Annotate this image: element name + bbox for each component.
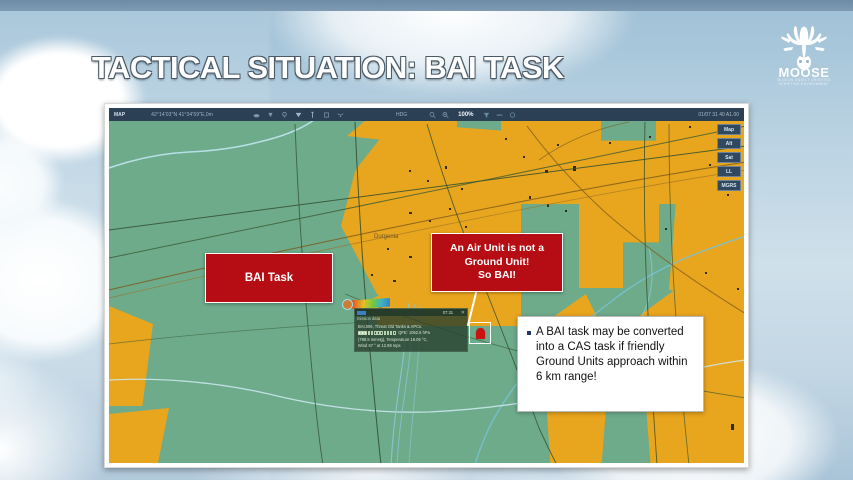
mission-gauge-line: QFE: 1052.6 hPa bbox=[358, 330, 465, 337]
weather-icon[interactable] bbox=[295, 111, 302, 119]
mission-panel-subtitle: mission data bbox=[355, 316, 467, 323]
callout-air-unit-note: An Air Unit is not a Ground Unit! So BAI… bbox=[431, 233, 563, 292]
close-icon[interactable]: ✕ bbox=[461, 310, 465, 317]
top-band bbox=[0, 0, 853, 11]
wind-icon[interactable] bbox=[267, 111, 274, 119]
mission-data-panel[interactable]: 07:31 ✕ mission data BAI.006, Threat Old… bbox=[354, 308, 468, 352]
zoom-controls bbox=[429, 111, 449, 119]
town-label: Durgenia bbox=[374, 234, 398, 240]
mission-time: 07:31 bbox=[443, 310, 453, 316]
fuel-gauge-icon bbox=[358, 331, 396, 337]
layer-button-map[interactable]: Map bbox=[717, 124, 741, 135]
circle-icon[interactable] bbox=[509, 111, 516, 119]
broadcast-icon[interactable] bbox=[337, 111, 344, 119]
callout-cas-conversion-text: A BAI task may be converted into a CAS t… bbox=[536, 325, 695, 385]
map-mode-label[interactable]: MAP bbox=[114, 112, 125, 118]
map-viewport[interactable]: Durgenia Olaskuri 07:31 ✕ mission data B… bbox=[109, 108, 744, 463]
grid-icon[interactable] bbox=[323, 111, 330, 119]
mission-panel-header: 07:31 ✕ bbox=[355, 309, 467, 316]
map-toolbar: MAP 42°14'03"N 41°34'59"E,0m HDG 100% bbox=[109, 108, 744, 121]
heading-label: HDG bbox=[396, 112, 407, 118]
mission-panel-body: BAI.006, Threat Old Tanks & APCs. QFE: 1… bbox=[355, 323, 467, 351]
toolbar-icon-group bbox=[253, 111, 344, 119]
page-title: TACTICAL SITUATION: BAI TASK bbox=[92, 50, 564, 86]
callout-cas-conversion-note: A BAI task may be converted into a CAS t… bbox=[517, 316, 704, 412]
ruler-icon[interactable] bbox=[309, 111, 316, 119]
layer-button-ll[interactable]: LL bbox=[717, 166, 741, 177]
minus-icon[interactable] bbox=[496, 111, 503, 119]
coordinate-readout: 42°14'03"N 41°34'59"E,0m bbox=[151, 112, 213, 118]
zoom-out-icon[interactable] bbox=[429, 111, 436, 119]
callout-air-unit-line1: An Air Unit is not a bbox=[450, 242, 544, 255]
callout-bai-task: BAI Task bbox=[205, 253, 333, 303]
layer-button-alt[interactable]: Alt bbox=[717, 138, 741, 149]
layer-button-sat[interactable]: Sat bbox=[717, 152, 741, 163]
zoom-level: 100% bbox=[458, 112, 473, 118]
toolbar-right-icon-group bbox=[483, 111, 516, 119]
pin-icon[interactable] bbox=[281, 111, 288, 119]
callout-air-unit-line3: So BAI! bbox=[478, 269, 516, 282]
mission-clock: 01/07 31 40 A1.00 bbox=[698, 112, 739, 118]
filter-icon[interactable] bbox=[483, 111, 490, 119]
map-layer-buttons: Map Alt Sat LL MGRS bbox=[717, 124, 741, 191]
callout-air-unit-line2: Ground Unit! bbox=[465, 256, 530, 269]
logo-tagline: MISSION OBJECT ORIENTED SCRIPTING ENVIRO… bbox=[769, 78, 839, 86]
slide: TACTICAL SITUATION: BAI TASK MOOSE MISSI… bbox=[0, 0, 853, 480]
cloud-icon[interactable] bbox=[253, 111, 260, 119]
moose-logo: MOOSE MISSION OBJECT ORIENTED SCRIPTING … bbox=[769, 14, 839, 84]
mission-wind-line: Wind 67 ° at 12.98 mps bbox=[358, 343, 465, 349]
callout-bai-task-label: BAI Task bbox=[245, 272, 293, 284]
map-screenshot-frame: Durgenia Olaskuri 07:31 ✕ mission data B… bbox=[104, 103, 749, 468]
air-unit-icon bbox=[342, 299, 353, 310]
qfe-value: QFE: 1052.6 hPa bbox=[398, 330, 430, 335]
zoom-in-icon[interactable] bbox=[442, 111, 449, 119]
layer-button-mgrs[interactable]: MGRS bbox=[717, 180, 741, 191]
bullet-icon bbox=[527, 331, 531, 335]
enemy-ground-target-marker[interactable] bbox=[469, 322, 491, 344]
unit-color-badge bbox=[357, 311, 366, 315]
threat-icon bbox=[476, 328, 485, 339]
